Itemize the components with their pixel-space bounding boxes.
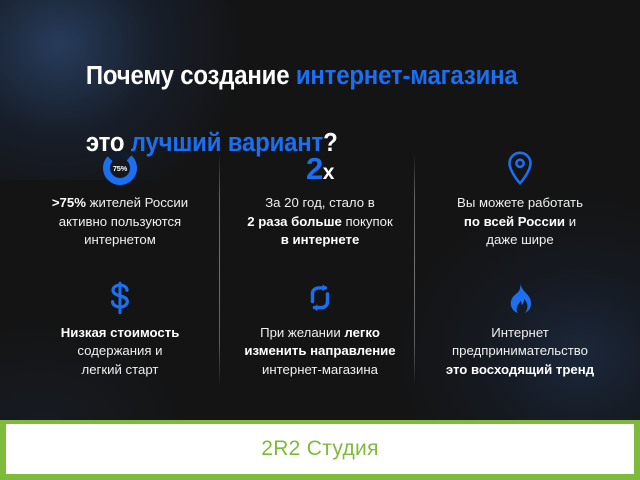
feature-cell-rising-trend: Интернетпредпринимательствоэто восходящи… [420, 268, 620, 396]
feature-cell-growth-2x: 2x За 20 год, стало в2 раза больше покуп… [220, 140, 420, 268]
feature-cell-change-direction: При желании легкоизменить направлениеинт… [220, 268, 420, 396]
slide-root: Почему создание интернет-магазина это лу… [0, 0, 640, 480]
feature-text: Вы можете работатьпо всей России идаже ш… [457, 194, 583, 250]
icon-slot [305, 276, 335, 320]
stat-number: 2 [306, 151, 323, 186]
feature-cell-internet-users: 75% >75% жителей Россииактивно пользуютс… [20, 140, 220, 268]
recycle-arrows-icon [305, 283, 335, 313]
stat-2x-icon: 2x [306, 153, 334, 184]
donut-chart-label: 75% [101, 149, 139, 187]
stat-multiplier: x [323, 161, 334, 184]
icon-slot: 2x [306, 146, 334, 190]
feature-text: Интернетпредпринимательствоэто восходящи… [446, 324, 594, 380]
icon-slot [108, 276, 132, 320]
icon-slot [508, 276, 532, 320]
icon-slot [507, 146, 533, 190]
feature-grid: 75% >75% жителей Россииактивно пользуютс… [20, 140, 620, 395]
feature-text: Низкая стоимостьсодержания илегкий старт [61, 324, 180, 380]
icon-slot: 75% [101, 146, 139, 190]
donut-chart-75-icon: 75% [101, 149, 139, 187]
feature-text: За 20 год, стало в2 раза больше покупокв… [247, 194, 393, 250]
feature-cell-low-cost: Низкая стоимостьсодержания илегкий старт [20, 268, 220, 396]
feature-cell-nationwide: Вы можете работатьпо всей России идаже ш… [420, 140, 620, 268]
feature-text: При желании легкоизменить направлениеинт… [244, 324, 395, 380]
title-segment-white-1: Почему создание [86, 62, 296, 90]
dollar-sign-icon [108, 281, 132, 315]
map-pin-icon [507, 151, 533, 185]
brand-label: 2R2 Студия [261, 437, 379, 461]
footer-inner-panel: 2R2 Студия [6, 424, 634, 474]
flame-icon [508, 282, 532, 314]
feature-text: >75% жителей Россииактивно пользуютсяинт… [52, 194, 188, 250]
title-segment-accent-1: интернет-магазина [296, 62, 518, 90]
footer-bar: 2R2 Студия [0, 420, 640, 480]
